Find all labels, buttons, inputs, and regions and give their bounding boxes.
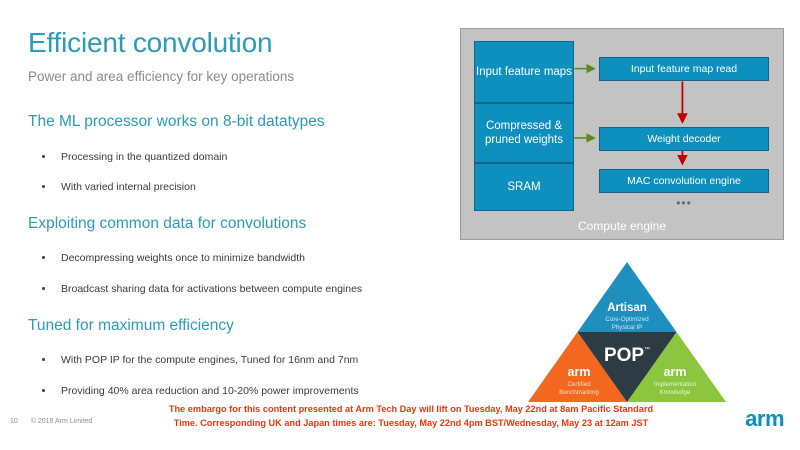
bullet-text: Providing 40% area reduction and 10-20% … [61,385,359,397]
artisan-sub-1: Core-Optimized [605,316,649,323]
page-number: 10 [10,418,18,425]
bullet-text: Processing in the quantized domain [61,151,227,163]
embargo-line-1: The embargo for this content presented a… [128,403,694,417]
slide-text-column: Efficient convolution Power and area eff… [28,28,448,399]
slide-canvas: Efficient convolution Power and area eff… [0,0,800,450]
arm-left-sub-1: Certified [567,381,591,388]
artisan-title: Artisan [607,302,647,314]
section-heading-1: The ML processor works on 8-bit datatype… [28,113,448,132]
bullet-text: With varied internal precision [61,181,196,193]
artisan-sub-2: Physical IP [612,324,643,331]
bullet-dot-icon [42,155,45,158]
bullet-dot-icon [42,185,45,188]
list-item: Providing 40% area reduction and 10-20% … [28,385,448,399]
list-item: Decompressing weights once to minimize b… [28,252,448,266]
bullet-list-3: With POP IP for the compute engines, Tun… [28,354,448,398]
page-subtitle: Power and area efficiency for key operat… [28,69,448,85]
list-item: With POP IP for the compute engines, Tun… [28,354,448,368]
list-item: Processing in the quantized domain [28,151,448,165]
section-heading-2: Exploiting common data for convolutions [28,215,448,234]
copyright-text: © 2018 Arm Limited [31,418,93,425]
bullet-dot-icon [42,389,45,392]
section-group-1: The ML processor works on 8-bit datatype… [28,113,448,195]
embargo-notice: The embargo for this content presented a… [128,403,694,431]
bullet-list-2: Decompressing weights once to minimize b… [28,252,448,296]
pop-trademark: ™ [644,346,650,353]
diagram-arrows [461,29,783,239]
arm-right-title: arm [664,365,687,379]
section-heading-3: Tuned for maximum efficiency [28,317,448,336]
section-group-3: Tuned for maximum efficiency With POP IP… [28,317,448,399]
bullet-dot-icon [42,287,45,290]
footer-left: 10 © 2018 Arm Limited [10,418,92,425]
diagram-caption: Compute engine [461,219,783,233]
bullet-text: Decompressing weights once to minimize b… [61,252,305,264]
compute-engine-diagram: Input feature maps Compressed & pruned w… [460,28,784,240]
bullet-text: With POP IP for the compute engines, Tun… [61,354,358,366]
arm-right-sub-1: Implementation [654,381,697,388]
bullet-text: Broadcast sharing data for activations b… [61,283,362,295]
arm-right-sub-2: Knowledge [660,389,691,396]
bullet-dot-icon [42,358,45,361]
pop-triangle-graphic: Artisan Core-Optimized Physical IP POP ™… [528,262,726,402]
pop-label: POP [604,345,644,366]
page-title: Efficient convolution [28,28,448,59]
arm-logo: arm [745,408,784,430]
arm-left-title: arm [568,365,591,379]
section-group-2: Exploiting common data for convolutions … [28,215,448,297]
list-item: With varied internal precision [28,181,448,195]
bullet-list-1: Processing in the quantized domain With … [28,151,448,195]
arm-left-sub-2: Benchmarking [559,389,599,396]
embargo-line-2: Time. Corresponding UK and Japan times a… [128,417,694,431]
bullet-dot-icon [42,256,45,259]
list-item: Broadcast sharing data for activations b… [28,283,448,297]
